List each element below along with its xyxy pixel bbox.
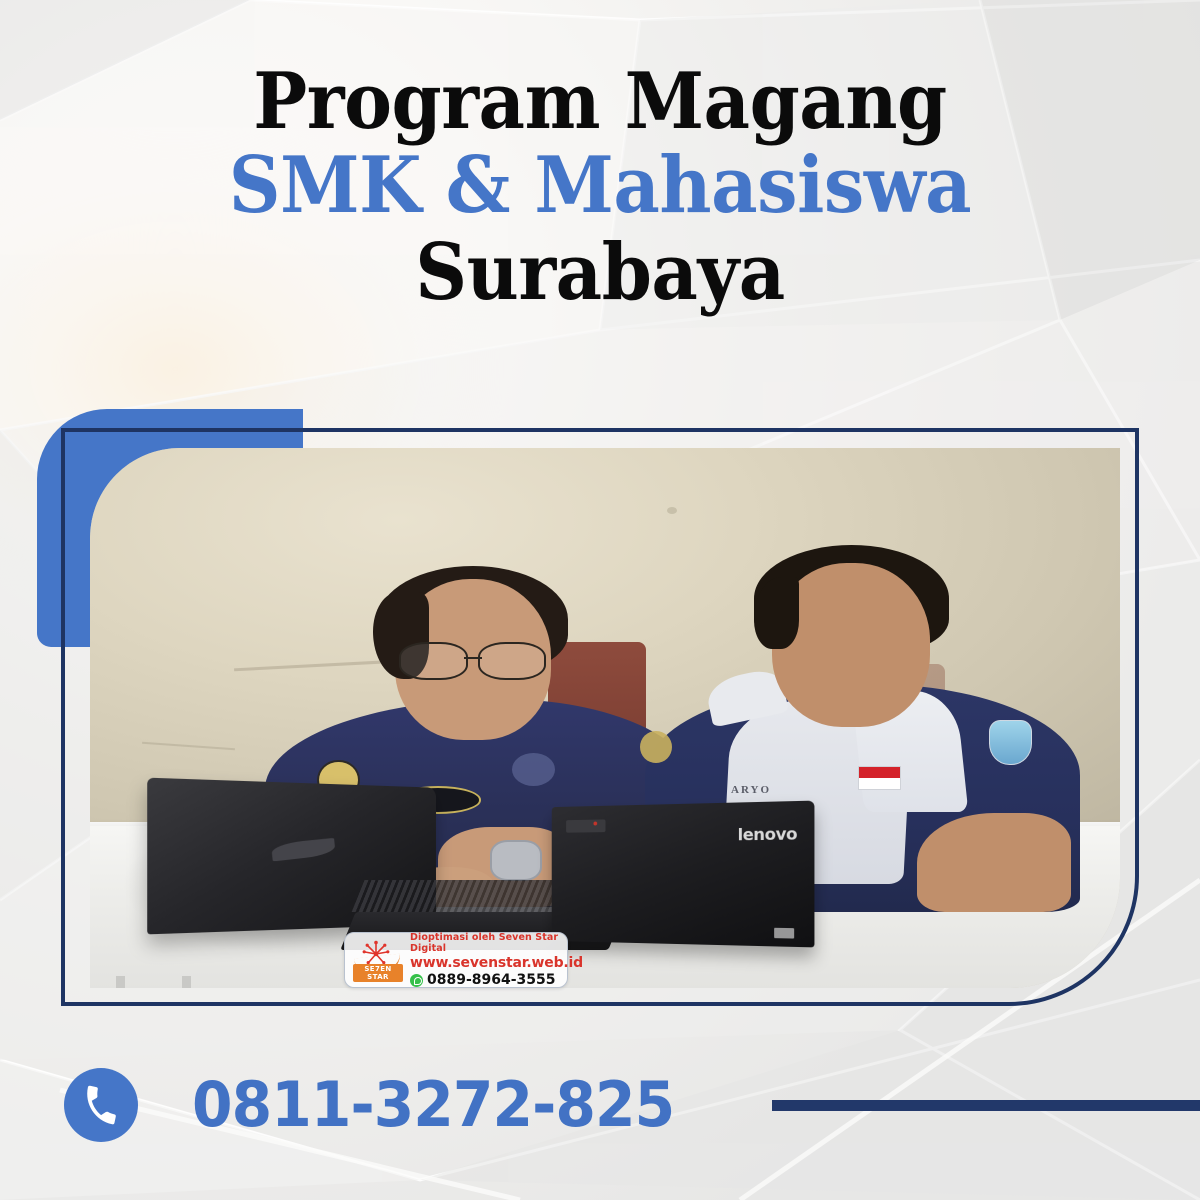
- watermark-text-block: Dioptimasi oleh Seven Star Digital www.s…: [410, 932, 583, 988]
- heading-line-3: Surabaya: [48, 233, 1152, 313]
- watermark-phone[interactable]: 0889-8964-3555: [427, 972, 556, 988]
- photo-frame-border: [61, 428, 1139, 1006]
- heading-line-2: SMK & Mahasiswa: [48, 146, 1152, 226]
- sevenstar-brand-text: SE7EN STAR: [353, 964, 403, 982]
- phone-handset-icon: [79, 1083, 123, 1127]
- watermark-website[interactable]: www.sevenstar.web.id: [410, 955, 583, 971]
- footer-rule: [772, 1100, 1200, 1111]
- footer-phone-number[interactable]: 0811-3272-825: [192, 1068, 674, 1142]
- poster-heading: Program Magang SMK & Mahasiswa Surabaya: [0, 62, 1200, 313]
- watermark-badge: SE7EN STAR Dioptimasi oleh Seven Star Di…: [344, 932, 568, 988]
- phone-icon[interactable]: [64, 1068, 138, 1142]
- watermark-tagline: Dioptimasi oleh Seven Star Digital: [410, 932, 583, 954]
- sevenstar-logo: SE7EN STAR: [353, 938, 403, 982]
- watermark-phone-row: 0889-8964-3555: [410, 972, 583, 988]
- whatsapp-icon: [410, 974, 423, 987]
- poster-canvas: Program Magang SMK & Mahasiswa Surabaya: [0, 0, 1200, 1200]
- heading-line-1: Program Magang: [48, 62, 1152, 142]
